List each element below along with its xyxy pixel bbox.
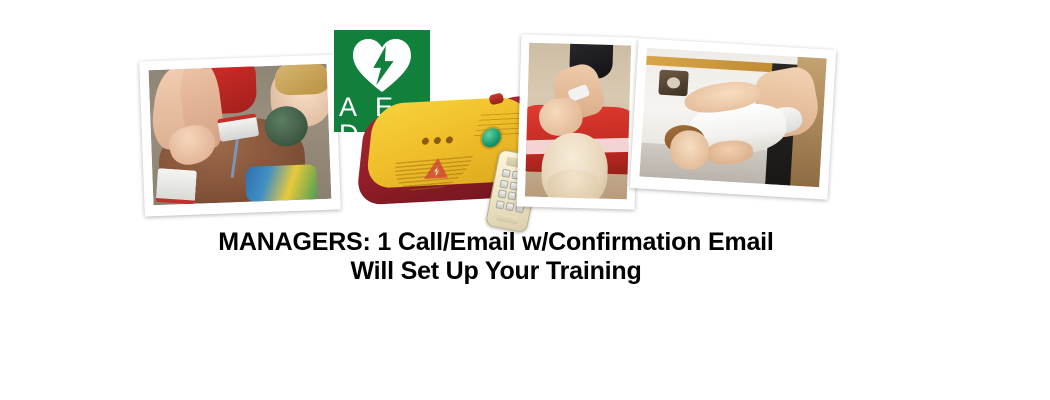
chest-compressions-scene [525,43,631,200]
infant-backblows-scene [639,48,826,187]
wall-fixture [659,69,689,96]
photo-cpr-manikin-image [149,64,332,205]
headline-line-2: Will Set Up Your Training [0,257,1050,286]
cpr-aed-training-banner: A E D [0,0,1050,400]
headline: MANAGERS: 1 Call/Email w/Confirmation Em… [0,228,1050,286]
training-kit-bag [245,164,317,202]
photo-cpr-manikin [139,54,341,216]
photo-chest-compressions [517,34,640,209]
photo-infant-backblows-image [639,48,826,187]
aed-status-leds [422,136,459,145]
student-hair [275,64,330,96]
photo-chest-compressions-image [525,43,631,200]
cpr-manikin-scene [149,64,332,205]
remote-bottom-strip [496,213,519,224]
aed-power-button [481,128,502,148]
manikin-chin [547,169,601,199]
heart-lightning-icon [351,37,413,93]
aed-pad-lower [155,168,196,204]
headline-line-1: MANAGERS: 1 Call/Email w/Confirmation Em… [0,228,1050,257]
photo-infant-backblows [630,38,837,199]
